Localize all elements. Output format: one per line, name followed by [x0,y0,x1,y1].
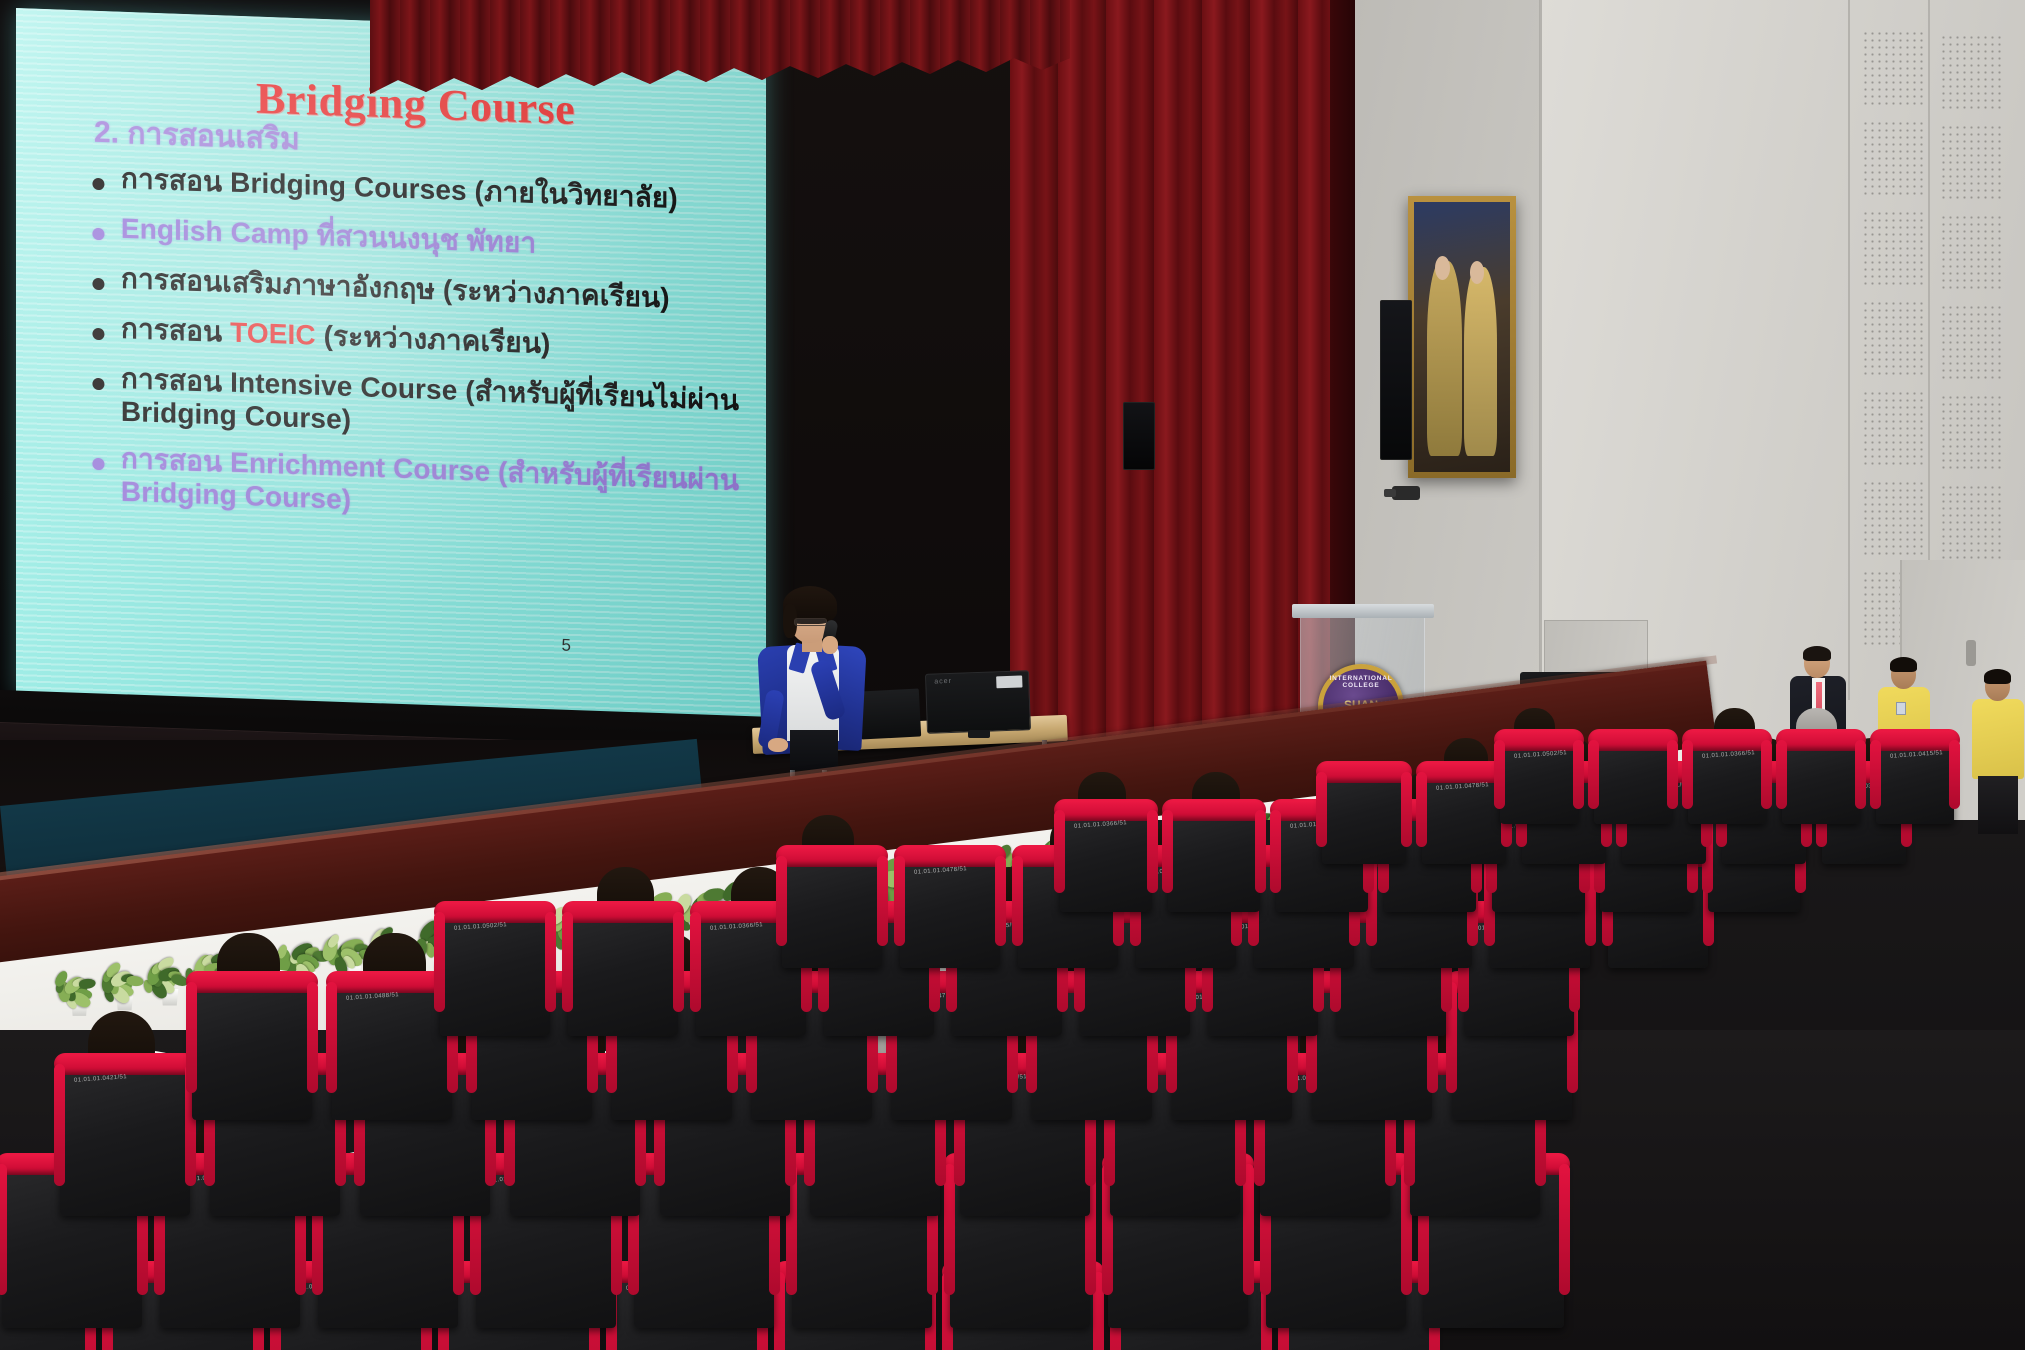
slide-bullet-4: ● การสอน TOEIC (ระหว่างภาคเรียน) [90,311,750,371]
wall-seam [1848,0,1850,700]
plant-leaf [79,979,96,989]
bullet-text-post: (ระหว่างภาคเรียน) [316,320,551,359]
bullet-dot-icon: ● [90,449,107,478]
auditorium-seat[interactable]: 01.01.01.0415/51 [1876,736,1954,824]
slide-bullet-text: การสอน Enrichment Course (สำหรับผู้ที่เร… [121,442,750,531]
bullet-dot-icon: ● [90,169,107,198]
seat-inventory-tag: 01.01.01.0366/51 [1702,750,1755,760]
royal-portrait-frame [1408,196,1516,478]
slide-bullet-6: ● การสอน Enrichment Course (สำหรับผู้ที่… [90,441,750,531]
bullet-text-highlight: TOEIC [230,317,316,351]
seat-armrest [1401,772,1412,847]
acoustic-panel [1940,214,2002,292]
door-handle[interactable] [1966,640,1976,666]
portrait-figure-right [1464,267,1497,456]
seat-armrest [673,912,684,1012]
staff-id-badge [1896,702,1906,715]
acoustic-panel [1940,304,2002,382]
auditorium-seat[interactable] [568,908,678,1036]
seat-armrest [1667,740,1678,809]
acoustic-panel [1862,210,1924,288]
auditorium-seat[interactable]: 01.01.01.0366/51 [1688,736,1766,824]
eyeglasses-icon [794,618,827,626]
seat-armrest [1147,810,1158,893]
seat-armrest [1855,740,1866,809]
staff-hair [1890,657,1917,672]
plant-foliage [57,968,102,1005]
seat-inventory-tag: 01.01.01.0366/51 [710,922,763,932]
seat-inventory-tag: 01.01.01.0502/51 [454,922,507,932]
auditorium-seat[interactable] [782,852,882,968]
slide-bullet-text: การสอน TOEIC (ระหว่างภาคเรียน) [121,312,551,360]
auditorium-seat[interactable]: 01.01.01.0478/51 [900,852,1000,968]
acoustic-panel [1862,300,1924,378]
emblem-arc-text: INTERNATIONAL COLLEGE [1323,675,1399,689]
portrait-figure-left [1427,261,1462,455]
seat-inventory-tag: 01.01.01.0366/51 [1074,820,1127,830]
seat-inventory-tag: 01.01.01.0415/51 [1890,750,1943,760]
seat-armrest [1761,740,1772,809]
laptop[interactable] [859,688,921,739]
projection-screen: Bridging Course 2. การสอนเสริม ● การสอน … [16,8,766,723]
auditorium-photo: Bridging Course 2. การสอนเสริม ● การสอน … [0,0,2025,1350]
monitor-sticker [996,675,1022,688]
seat-inventory-tag: 01.01.01.0478/51 [914,866,967,876]
slide-subtitle: 2. การสอนเสริม [94,109,300,163]
presenter-skirt [790,730,838,770]
staff-polo-shirt [1972,699,2024,779]
seat-inventory-tag: 01.01.01.0502/51 [1514,750,1567,760]
seat-armrest [995,856,1006,946]
slide-bullet-1: ● การสอน Bridging Courses (ภายในวิทยาลัย… [90,161,750,221]
acoustic-panel [1940,124,2002,202]
auditorium-seat[interactable]: 01.01.01.0366/51 [1060,806,1152,912]
wall-speaker-icon [1123,402,1155,470]
monitor-brand-label: acer [934,678,952,686]
seat-inventory-tag: 01.01.01.0421/51 [74,1074,127,1084]
auditorium-seat[interactable] [1168,806,1260,912]
auditorium-seat[interactable]: 01.01.01.0502/51 [1500,736,1578,824]
staff-hair [1984,669,2011,684]
slide-bullet-text: การสอน Intensive Course (สำหรับผู้ที่เรี… [121,362,750,451]
computer-monitor: acer [925,670,1031,734]
auditorium-seat[interactable] [1322,768,1406,864]
seat-armrest [545,912,556,1012]
seat-armrest [1559,1164,1570,1295]
royal-portrait-image [1414,202,1510,472]
auditorium-seat[interactable]: 01.01.01.0502/51 [440,908,550,1036]
plant-foliage [102,962,148,1000]
slide-bullet-text: การสอน Bridging Courses (ภายในวิทยาลัย) [121,162,678,215]
slide-bullet-text: English Camp ที่สวนนงนุช พัทยา [121,212,536,260]
seat-armrest [307,982,318,1093]
seat-armrest [877,856,888,946]
lectern-top [1292,604,1434,618]
slide-number: 5 [562,636,571,656]
seat-armrest [1949,740,1960,809]
security-camera-icon [1392,486,1420,500]
bullet-dot-icon: ● [90,219,107,248]
acoustic-panel [1940,394,2002,472]
slide-bullet-text: การสอนเสริมภาษาอังกฤษ (ระหว่างภาคเรียน) [121,262,670,315]
acoustic-panel [1862,390,1924,468]
seat-armrest [1255,810,1266,893]
acoustic-panel [1940,484,2002,562]
staff-member [1972,672,2024,832]
staff-trousers [1978,776,2018,834]
auditorium-seat[interactable] [192,978,312,1120]
auditorium-seat[interactable]: 01.01.01.0421/51 [60,1060,190,1216]
presenter-hand [822,636,838,654]
acoustic-panel [1862,30,1924,108]
slide-bullet-3: ● การสอนเสริมภาษาอังกฤษ (ระหว่างภาคเรียน… [90,261,750,321]
monitor-stand [968,730,990,738]
seat-inventory-tag: 01.01.01.0478/51 [1436,782,1489,792]
acoustic-panel [1940,34,2002,112]
seat-armrest [1573,740,1584,809]
official-hair [1803,646,1831,661]
slide-bullet-5: ● การสอน Intensive Course (สำหรับผู้ที่เ… [90,361,750,451]
acoustic-panel [1862,120,1924,198]
slide-bullet-list: ● การสอน Bridging Courses (ภายในวิทยาลัย… [90,161,750,545]
acoustic-panel [1862,480,1924,558]
wall-speaker-icon [1380,300,1412,460]
bullet-dot-icon: ● [90,369,107,398]
bullet-text-pre: การสอน [121,313,230,348]
bullet-dot-icon: ● [90,319,107,348]
seat-inventory-tag: 01.01.01.0488/51 [346,992,399,1002]
auditorium-seat[interactable] [1782,736,1860,824]
presentation-slide: Bridging Course 2. การสอนเสริม ● การสอน … [16,8,766,723]
slide-bullet-2: ● English Camp ที่สวนนงนุช พัทยา [90,211,750,271]
presenter-hand-on-table [768,738,788,752]
bullet-dot-icon: ● [90,269,107,298]
auditorium-seat[interactable] [1594,736,1672,824]
